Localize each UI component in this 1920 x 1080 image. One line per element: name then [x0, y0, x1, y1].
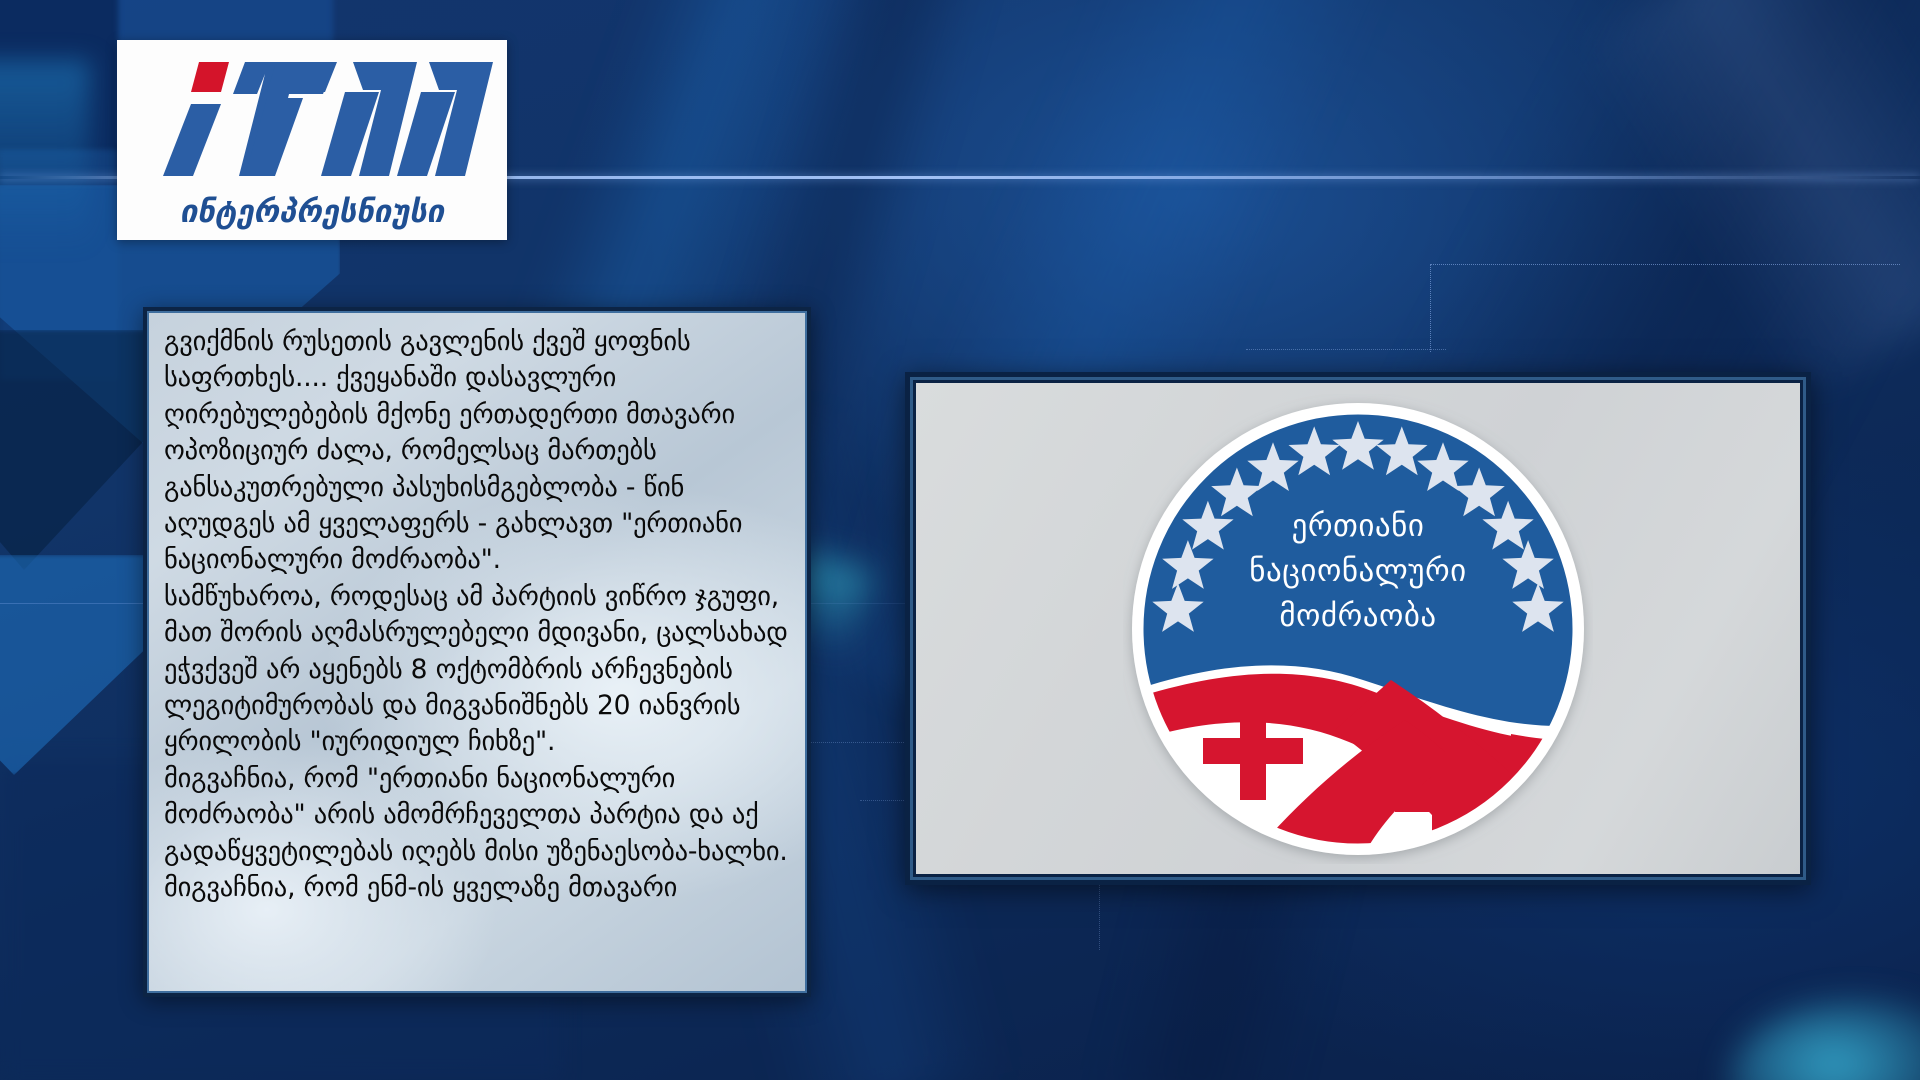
broadcast-stage: ინტერპრესნიუსი გვიქმნის რუსეთის გავლენის…	[0, 0, 1920, 1080]
party-name-line-2: ნაციონალური	[1249, 553, 1466, 589]
party-logo-panel-border: ერთიანი ნაციონალური მოძრაობა	[910, 377, 1806, 880]
party-logo-panel-inner: ერთიანი ნაციონალური მოძრაობა	[916, 383, 1800, 874]
news-text-panel-inner: გვიქმნის რუსეთის გავლენის ქვეშ ყოფნის სა…	[147, 311, 807, 993]
ipn-mark-icon	[117, 48, 507, 183]
news-text-panel: გვიქმნის რუსეთის გავლენის ქვეშ ყოფნის სა…	[143, 307, 811, 997]
channel-logo: ინტერპრესნიუსი	[117, 40, 507, 240]
channel-logo-wordmark: ინტერპრესნიუსი	[117, 194, 507, 230]
background-hud-rect	[1430, 264, 1900, 352]
party-logo-panel: ერთიანი ნაციონალური მოძრაობა	[905, 372, 1811, 885]
news-body-text: გვიქმნის რუსეთის გავლენის ქვეშ ყოფნის სა…	[149, 313, 805, 907]
unm-party-logo-icon: ერთიანი ნაციონალური მოძრაობა	[1123, 394, 1593, 864]
party-name-line-3: მოძრაობა	[1279, 598, 1436, 634]
background-hud-rect	[1246, 349, 1446, 350]
party-name-line-1: ერთიანი	[1292, 508, 1425, 544]
background-accent	[0, 60, 90, 250]
